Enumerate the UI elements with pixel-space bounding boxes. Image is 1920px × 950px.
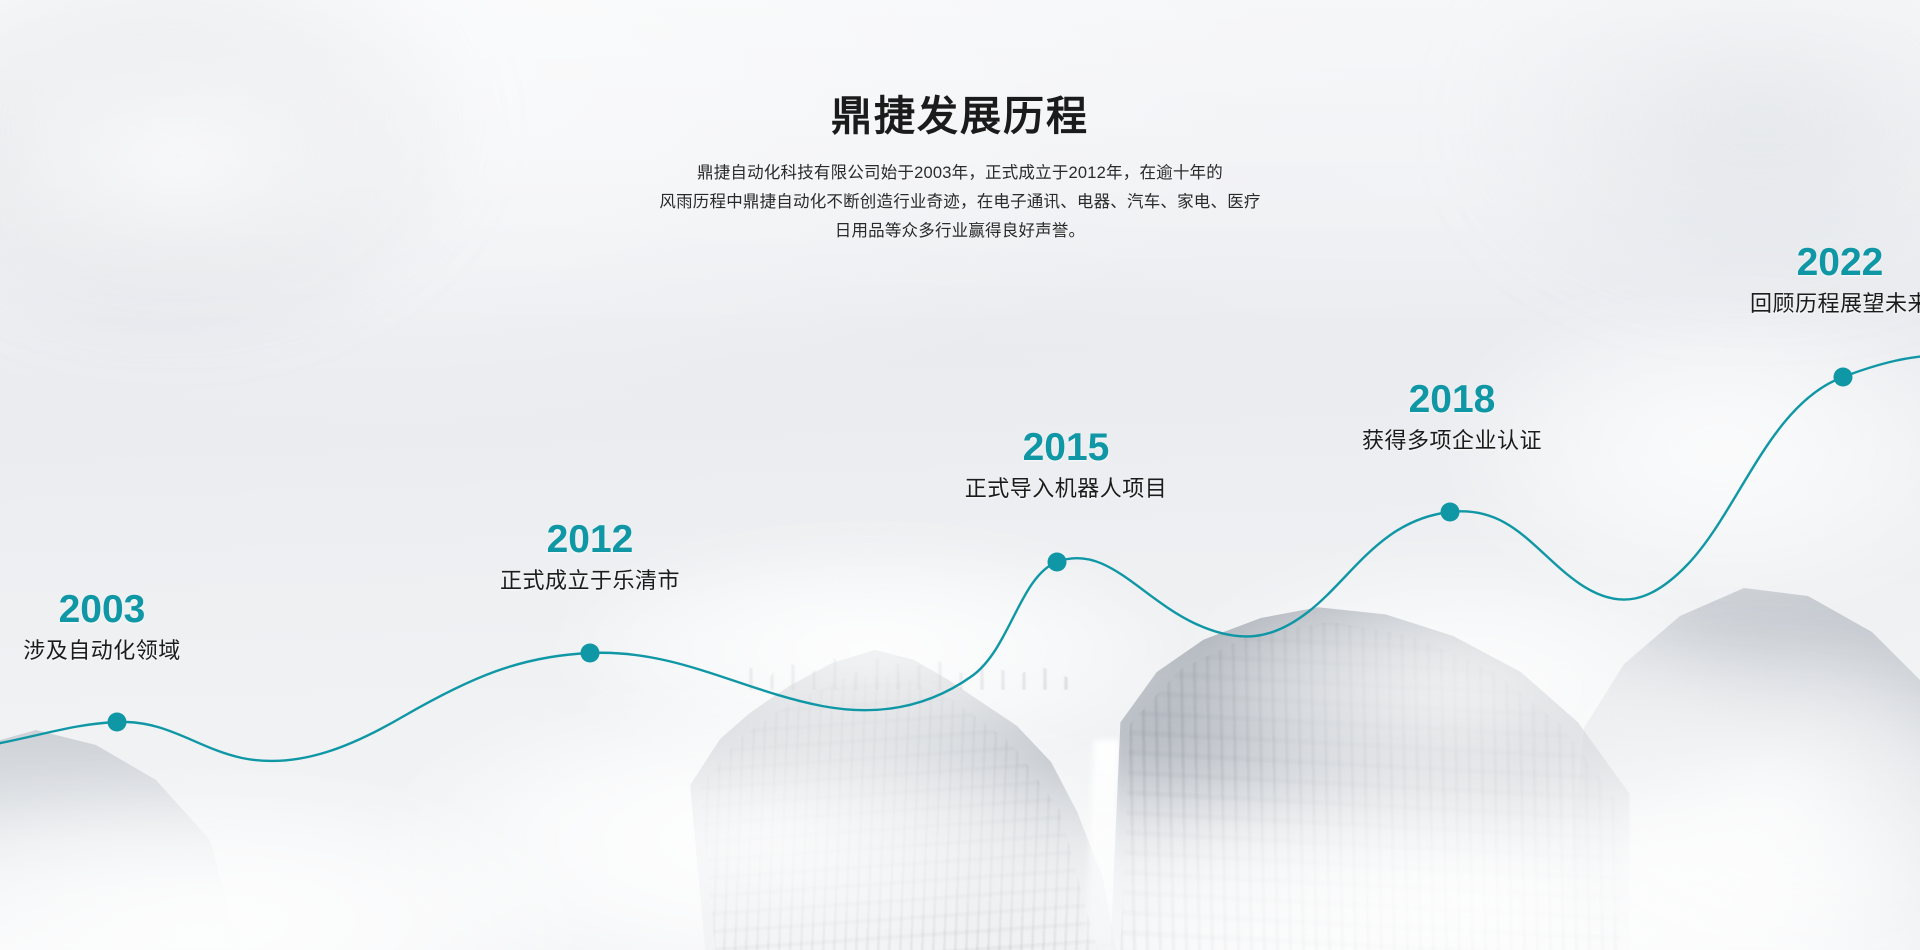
milestone-2022[interactable]: 2022 回顾历程展望未来 xyxy=(1750,243,1920,317)
intro-line-2: 风雨历程中鼎捷自动化不断创造行业奇迹，在电子通讯、电器、汽车、家电、医疗 xyxy=(580,188,1340,217)
milestone-caption-2012: 正式成立于乐清市 xyxy=(500,568,680,594)
milestone-caption-2003: 涉及自动化领域 xyxy=(23,638,181,664)
milestone-caption-2018: 获得多项企业认证 xyxy=(1362,428,1542,454)
timeline-dot-2012[interactable] xyxy=(581,644,600,663)
timeline-curve-path xyxy=(0,355,1920,761)
intro-line-1: 鼎捷自动化科技有限公司始于2003年，正式成立于2012年，在逾十年的 xyxy=(580,159,1340,188)
intro-line-3: 日用品等众多行业赢得良好声誉。 xyxy=(580,217,1340,246)
milestone-year-2015: 2015 xyxy=(965,428,1168,467)
milestone-year-2022: 2022 xyxy=(1750,243,1920,282)
milestone-2015[interactable]: 2015 正式导入机器人项目 xyxy=(965,428,1168,502)
timeline-dot-2018[interactable] xyxy=(1441,503,1460,522)
milestone-year-2012: 2012 xyxy=(500,520,680,559)
milestone-year-2018: 2018 xyxy=(1362,380,1542,419)
milestone-2012[interactable]: 2012 正式成立于乐清市 xyxy=(500,520,680,594)
timeline-dot-2003[interactable] xyxy=(108,713,127,732)
timeline-dot-group xyxy=(108,368,1853,732)
milestone-year-2003: 2003 xyxy=(23,590,181,629)
milestone-caption-2015: 正式导入机器人项目 xyxy=(965,476,1168,502)
page-title: 鼎捷发展历程 xyxy=(0,92,1920,141)
intro-paragraph: 鼎捷自动化科技有限公司始于2003年，正式成立于2012年，在逾十年的 风雨历程… xyxy=(580,159,1340,246)
timeline-dot-2022[interactable] xyxy=(1834,368,1853,387)
milestone-2018[interactable]: 2018 获得多项企业认证 xyxy=(1362,380,1542,454)
headline-block: 鼎捷发展历程 鼎捷自动化科技有限公司始于2003年，正式成立于2012年，在逾十… xyxy=(0,92,1920,246)
timeline-dot-2015[interactable] xyxy=(1048,553,1067,572)
timeline-infographic: 鼎捷发展历程 鼎捷自动化科技有限公司始于2003年，正式成立于2012年，在逾十… xyxy=(0,0,1920,950)
milestone-2003[interactable]: 2003 涉及自动化领域 xyxy=(23,590,181,664)
milestone-caption-2022: 回顾历程展望未来 xyxy=(1750,291,1920,317)
